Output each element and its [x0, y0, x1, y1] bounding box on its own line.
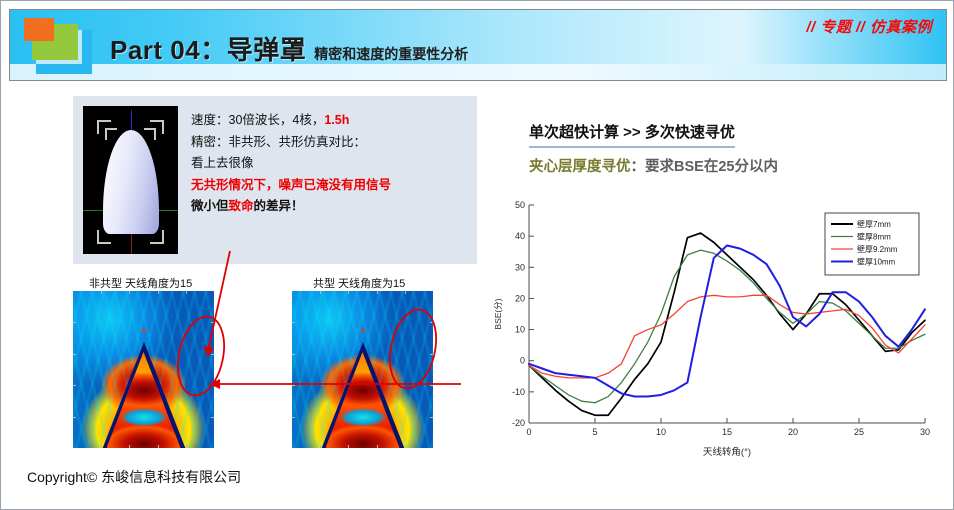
chart-x-tick-label: 5: [592, 427, 597, 437]
heatmap-non-conformal: [73, 291, 214, 448]
chart-y-tick-label: 0: [520, 356, 525, 366]
chart-y-tick-label: 30: [515, 262, 525, 272]
chart-svg: 051015202530-20-1001020304050天线转角(°)BSE(…: [493, 193, 939, 471]
chart-x-tick-label: 25: [854, 427, 864, 437]
info-line-noise: 无共形情况下，噪声已淹没有用信号: [191, 179, 469, 192]
chart-x-tick-label: 0: [526, 427, 531, 437]
info-speed-prefix: 速度：30倍波长，4核，: [191, 113, 324, 127]
page-title: Part 04：导弹罩: [110, 30, 306, 67]
heatmap-caption-non-conformal: 非共型 天线角度为15: [89, 275, 192, 291]
chart-y-axis-label: BSE(分): [493, 298, 503, 329]
cad-bracket-bottom-right: [150, 230, 164, 244]
right-heading-secondary-rest: ：要求BSE在25分以内: [631, 159, 778, 175]
right-heading-secondary: 夹心层厚度寻优：要求BSE在25分以内: [529, 155, 929, 176]
page-subtitle: 精密和速度的重要性分析: [314, 44, 468, 64]
right-panel-headings: 单次超快计算 >> 多次快速寻优 夹心层厚度寻优：要求BSE在25分以内: [529, 121, 929, 176]
chart-legend-label-1: 壁厚7mm: [857, 219, 891, 229]
info-diff-prefix: 微小但: [191, 199, 229, 213]
header-category-tag: // 专题 // 仿真案例: [806, 16, 932, 37]
chart-x-axis-label: 天线转角(°): [703, 446, 751, 458]
info-text-block: 速度：30倍波长，4核，1.5h 精密：非共形、共形仿真对比： 看上去很像 无共…: [191, 114, 469, 222]
info-line-precision: 精密：非共形、共形仿真对比：: [191, 136, 469, 149]
chart-y-tick-label: 10: [515, 325, 525, 335]
right-heading-primary: 单次超快计算 >> 多次快速寻优: [529, 121, 735, 148]
header-title-group: Part 04：导弹罩 精密和速度的重要性分析: [110, 30, 468, 67]
chart-legend-label-2: 壁厚8mm: [857, 232, 891, 242]
chart-x-tick-label: 10: [656, 427, 666, 437]
chart-y-tick-label: -10: [512, 387, 525, 397]
chart-x-tick-label: 20: [788, 427, 798, 437]
info-diff-suffix: 的差异！: [254, 199, 304, 213]
chart-series-3: [529, 295, 925, 378]
logo-orange-square: [24, 18, 54, 41]
chart-x-tick-label: 30: [920, 427, 930, 437]
chart-x-tick-label: 15: [722, 427, 732, 437]
chart-y-tick-label: 40: [515, 231, 525, 241]
heatmap-caption-conformal: 共型 天线角度为15: [313, 275, 405, 291]
info-line-speed: 速度：30倍波长，4核，1.5h: [191, 114, 469, 127]
chart-legend-label-3: 壁厚9.2mm: [857, 244, 898, 254]
chart-y-tick-label: 20: [515, 293, 525, 303]
cad-bracket-top-left-inner: [105, 128, 117, 140]
right-heading-secondary-bold: 夹心层厚度寻优: [529, 159, 631, 175]
chart-y-tick-label: 50: [515, 200, 525, 210]
chart-legend-label-4: 壁厚10mm: [857, 257, 896, 267]
cad-bracket-top-right-inner: [144, 128, 156, 140]
chart-y-tick-label: -20: [512, 418, 525, 428]
heatmap-axis-ticks-1: [73, 291, 214, 448]
cad-bracket-bottom-left: [97, 230, 111, 244]
info-line-looks: 看上去很像: [191, 157, 469, 170]
brand-logo: [24, 18, 96, 74]
heatmap-axis-ticks-2: [292, 291, 433, 448]
radome-cone-geometry: [103, 130, 159, 234]
slide-canvas: Part 04：导弹罩 精密和速度的重要性分析 // 专题 // 仿真案例 速度…: [0, 0, 954, 510]
info-speed-highlight: 1.5h: [324, 113, 349, 127]
info-diff-highlight: 致命: [229, 199, 254, 213]
info-panel: 速度：30倍波长，4核，1.5h 精密：非共形、共形仿真对比： 看上去很像 无共…: [73, 96, 477, 264]
heatmap-conformal: [292, 291, 433, 448]
slide-header: Part 04：导弹罩 精密和速度的重要性分析 // 专题 // 仿真案例: [9, 9, 947, 81]
bse-vs-angle-chart: 051015202530-20-1001020304050天线转角(°)BSE(…: [493, 193, 939, 471]
footer-copyright: Copyright© 东峻信息科技有限公司: [27, 467, 241, 487]
info-line-difference: 微小但致命的差异！: [191, 200, 469, 213]
missile-radome-cad-view: [83, 106, 178, 254]
